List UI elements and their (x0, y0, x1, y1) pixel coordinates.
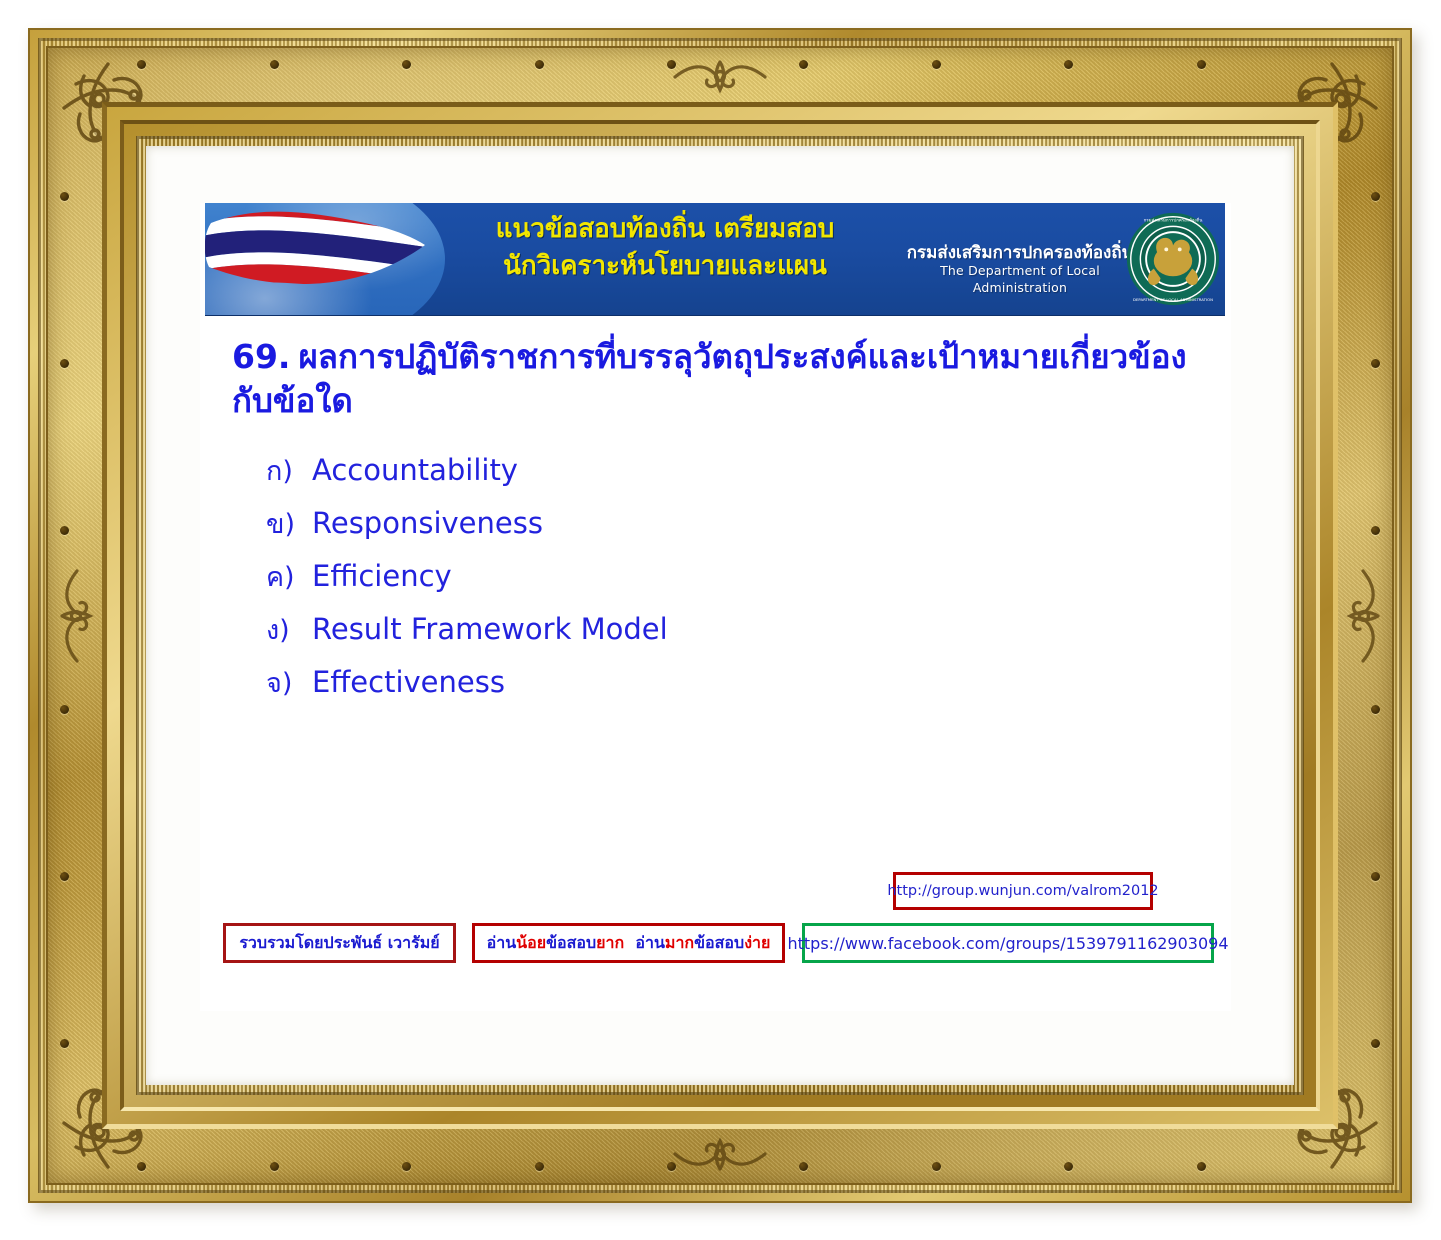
department-seal-icon: กรมส่งเสริมการปกครองท้องถิ่น DEPARTMENT … (1125, 211, 1221, 307)
question-number: 69. (232, 337, 290, 376)
choice-label: Efficiency (312, 562, 452, 591)
facebook-url-text: https://www.facebook.com/groups/15397911… (787, 934, 1228, 953)
choice-key: จ) (266, 670, 312, 697)
motto-seg-8: ง่าย (744, 933, 770, 952)
choice-label: Responsiveness (312, 509, 543, 538)
department-name-thai: กรมส่งเสริมการปกครองท้องถิ่น (895, 243, 1145, 263)
screenshot-stage: แนวข้อสอบท้องถิ่น เตรียมสอบ นักวิเคราะห์… (0, 0, 1441, 1240)
answer-choice-cho[interactable]: จ) Effectiveness (266, 668, 1126, 697)
choice-label: Effectiveness (312, 668, 505, 697)
choice-key: ข) (266, 511, 312, 538)
choice-key: ค) (266, 564, 312, 591)
answer-choice-ngo[interactable]: ง) Result Framework Model (266, 615, 1126, 644)
slide-canvas: แนวข้อสอบท้องถิ่น เตรียมสอบ นักวิเคราะห์… (200, 203, 1231, 1011)
thai-flag-icon (205, 205, 439, 305)
motto-seg-7: ข้อสอบ (694, 933, 744, 952)
answer-choice-list: ก) Accountability ข) Responsiveness ค) E… (266, 456, 1126, 721)
slide-banner: แนวข้อสอบท้องถิ่น เตรียมสอบ นักวิเคราะห์… (205, 203, 1225, 316)
choice-key: ง) (266, 617, 312, 644)
choice-label: Accountability (312, 456, 518, 485)
motto-box: อ่านน้อยข้อสอบยาก อ่านมากข้อสอบง่าย (472, 923, 785, 963)
group-url-box[interactable]: http://group.wunjun.com/valrom2012 (893, 872, 1153, 910)
motto-seg-1: อ่าน (487, 933, 517, 952)
author-credit-text: รวบรวมโดยประพันธ์ เวารัมย์ (239, 931, 439, 956)
motto-text: อ่านน้อยข้อสอบยาก อ่านมากข้อสอบง่าย (487, 931, 771, 956)
banner-department: กรมส่งเสริมการปกครองท้องถิ่น The Departm… (895, 243, 1145, 296)
choice-key: ก) (266, 458, 312, 485)
author-credit-box: รวบรวมโดยประพันธ์ เวารัมย์ (223, 923, 456, 963)
motto-seg-6: มาก (665, 933, 694, 952)
facebook-group-box[interactable]: https://www.facebook.com/groups/15397911… (802, 923, 1214, 963)
choice-label: Result Framework Model (312, 615, 668, 644)
motto-seg-5: อ่าน (635, 933, 665, 952)
banner-title: แนวข้อสอบท้องถิ่น เตรียมสอบ นักวิเคราะห์… (430, 211, 900, 285)
question-text: 69.ผลการปฏิบัติราชการที่บรรลุวัตถุประสงค… (232, 335, 1207, 423)
motto-seg-2: น้อย (516, 933, 546, 952)
group-url-text: http://group.wunjun.com/valrom2012 (887, 883, 1158, 899)
question-body: ผลการปฏิบัติราชการที่บรรลุวัตถุประสงค์แล… (232, 337, 1187, 420)
banner-title-line-2: นักวิเคราะห์นโยบายและแผน (430, 248, 900, 285)
answer-choice-kho-khwai[interactable]: ค) Efficiency (266, 562, 1126, 591)
motto-seg-3: ข้อสอบ (546, 933, 596, 952)
answer-choice-kho[interactable]: ข) Responsiveness (266, 509, 1126, 538)
banner-title-line-1: แนวข้อสอบท้องถิ่น เตรียมสอบ (430, 211, 900, 248)
svg-text:DEPARTMENT OF LOCAL ADMINISTRA: DEPARTMENT OF LOCAL ADMINISTRATION (1133, 297, 1213, 302)
department-name-english: The Department of Local Administration (895, 263, 1145, 296)
answer-choice-ka[interactable]: ก) Accountability (266, 456, 1126, 485)
motto-seg-4: ยาก (596, 933, 624, 952)
